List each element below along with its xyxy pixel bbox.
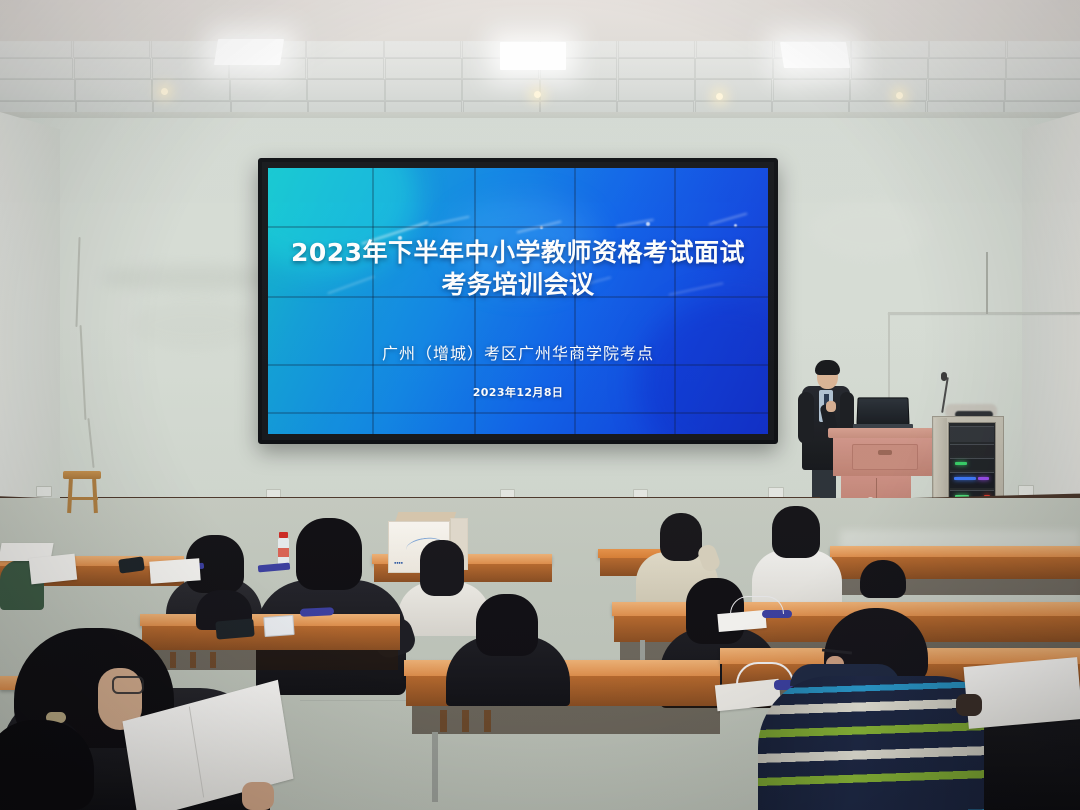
lecture-hall-photo: 2023年下半年中小学教师资格考试面试 考务培训会议 广州（增城）考区广州华商学… (0, 0, 1080, 810)
desk-row3-slat-2 (190, 652, 196, 668)
paper-row2-center (149, 558, 200, 583)
cardboard-box-brand-logo: ●●●● (394, 560, 403, 565)
ceiling-tile (74, 58, 151, 80)
podium-drawer-panel (852, 444, 918, 470)
smartphone-row3[interactable] (215, 618, 254, 639)
ceiling-tile (0, 58, 73, 80)
ceiling-tile (385, 58, 462, 80)
rack-led-purple (978, 477, 989, 480)
slide-title-line1: 2023年下半年中小学教师资格考试面试 (268, 238, 768, 269)
attendee-fg-right-hand (956, 694, 982, 716)
ceiling-tile (773, 79, 850, 101)
podium-laptop-screen[interactable] (856, 397, 909, 425)
ceiling-tile (928, 58, 1005, 80)
ceiling-downlight-4 (896, 92, 903, 99)
desk-row3-right (612, 602, 1080, 616)
desk-row3-center-underside (146, 650, 398, 670)
ceiling-tile (928, 79, 1005, 101)
attendee-center-back-hair (476, 594, 538, 656)
panel-seam-h1 (268, 226, 768, 228)
ceiling-tile (230, 79, 307, 101)
podium-desktop (828, 428, 940, 438)
ceiling-tile (695, 79, 772, 101)
ceiling-tile (618, 79, 695, 101)
badge-row3[interactable] (263, 615, 294, 637)
rack-unit-2 (950, 444, 994, 456)
ceiling-tile (540, 79, 617, 101)
wooden-stool-seat[interactable] (63, 471, 101, 479)
rack-led-blue-row (954, 477, 976, 480)
wall-antenna-whip (986, 252, 988, 314)
ceiling-downlight-2 (534, 91, 541, 98)
ceiling-tile (851, 58, 928, 80)
ceiling-panel-light-1 (214, 39, 284, 65)
wall-outlet-left[interactable] (36, 486, 52, 497)
slide-date: 2023年12月8日 (268, 384, 768, 400)
attendee-right-row-hair (860, 560, 906, 598)
attendee-white-hoodie-hair (772, 506, 820, 558)
wooden-stool-crossbar (68, 497, 98, 500)
attendee-center-ponytail-hair (420, 540, 464, 596)
ceiling-panel-light-2 (500, 42, 566, 70)
ceiling-tile (850, 79, 927, 101)
attendee-beige-hoodie-hair (660, 513, 702, 561)
desk-fg-slat-1 (440, 710, 447, 732)
ceiling-tile (1005, 79, 1080, 101)
desk-fg-slat-2 (462, 710, 469, 732)
desk-fg-slat-3 (484, 710, 491, 732)
ceiling-tile (462, 79, 539, 101)
ceiling-tile (385, 79, 462, 101)
wall-stain-2 (130, 300, 260, 350)
presenter-hand (826, 401, 836, 412)
ceiling-tile (1006, 58, 1080, 80)
panel-seam-h3 (268, 364, 768, 366)
ceiling-tile (75, 79, 152, 101)
presenter-shoulder-left (798, 392, 814, 444)
screen-streak-5 (708, 213, 747, 226)
video-wall-screen[interactable]: 2023年下半年中小学教师资格考试面试 考务培训会议 广州（增城）考区广州华商学… (268, 168, 768, 434)
ceiling-tile (0, 79, 75, 101)
microphone-capsule (941, 372, 947, 381)
desk-row3-slat-1 (170, 652, 176, 668)
attendee-fg-glasses-frames (112, 676, 144, 694)
ceiling-tile (307, 58, 384, 80)
paper-stack-left-2 (29, 554, 77, 585)
desk-foreground-center-underside (412, 706, 720, 734)
rack-led-green-1 (955, 462, 967, 465)
ceiling-panel-light-3 (780, 42, 850, 68)
lanyard-row3-cord (730, 596, 784, 614)
desk-row3-slat-3 (210, 652, 216, 668)
podium-drawer-handle[interactable] (878, 450, 892, 455)
desk-row1-right (830, 546, 1080, 557)
wall-conduit-horizontal (888, 312, 1080, 314)
video-wall-bezel: 2023年下半年中小学教师资格考试面试 考务培训会议 广州（增城）考区广州华商学… (258, 158, 778, 444)
ceiling-tile (307, 79, 384, 101)
right-wall (1022, 112, 1080, 542)
ceiling-downlight-1 (161, 88, 168, 95)
panel-seam-h4 (268, 412, 768, 414)
slide-title-line2: 考务培训会议 (268, 270, 768, 301)
left-wall (0, 112, 60, 542)
attendee-black-jacket-hair (296, 518, 362, 590)
wall-stain-3 (810, 200, 930, 260)
ceiling-tile (618, 58, 695, 80)
desk-foreground-leg (432, 732, 438, 802)
ceiling-downlight-3 (716, 93, 723, 100)
attendee-fg-glasses-hand (242, 782, 274, 810)
slide-subtitle: 广州（增城）考区广州华商学院考点 (268, 340, 768, 364)
paper-foreground-right[interactable] (964, 657, 1080, 729)
ceiling-tile (695, 58, 772, 80)
rack-unit-1 (950, 426, 994, 442)
rack-unit-mixer (950, 472, 994, 488)
water-bottle-label (278, 548, 289, 557)
presenter-hair (815, 360, 840, 375)
